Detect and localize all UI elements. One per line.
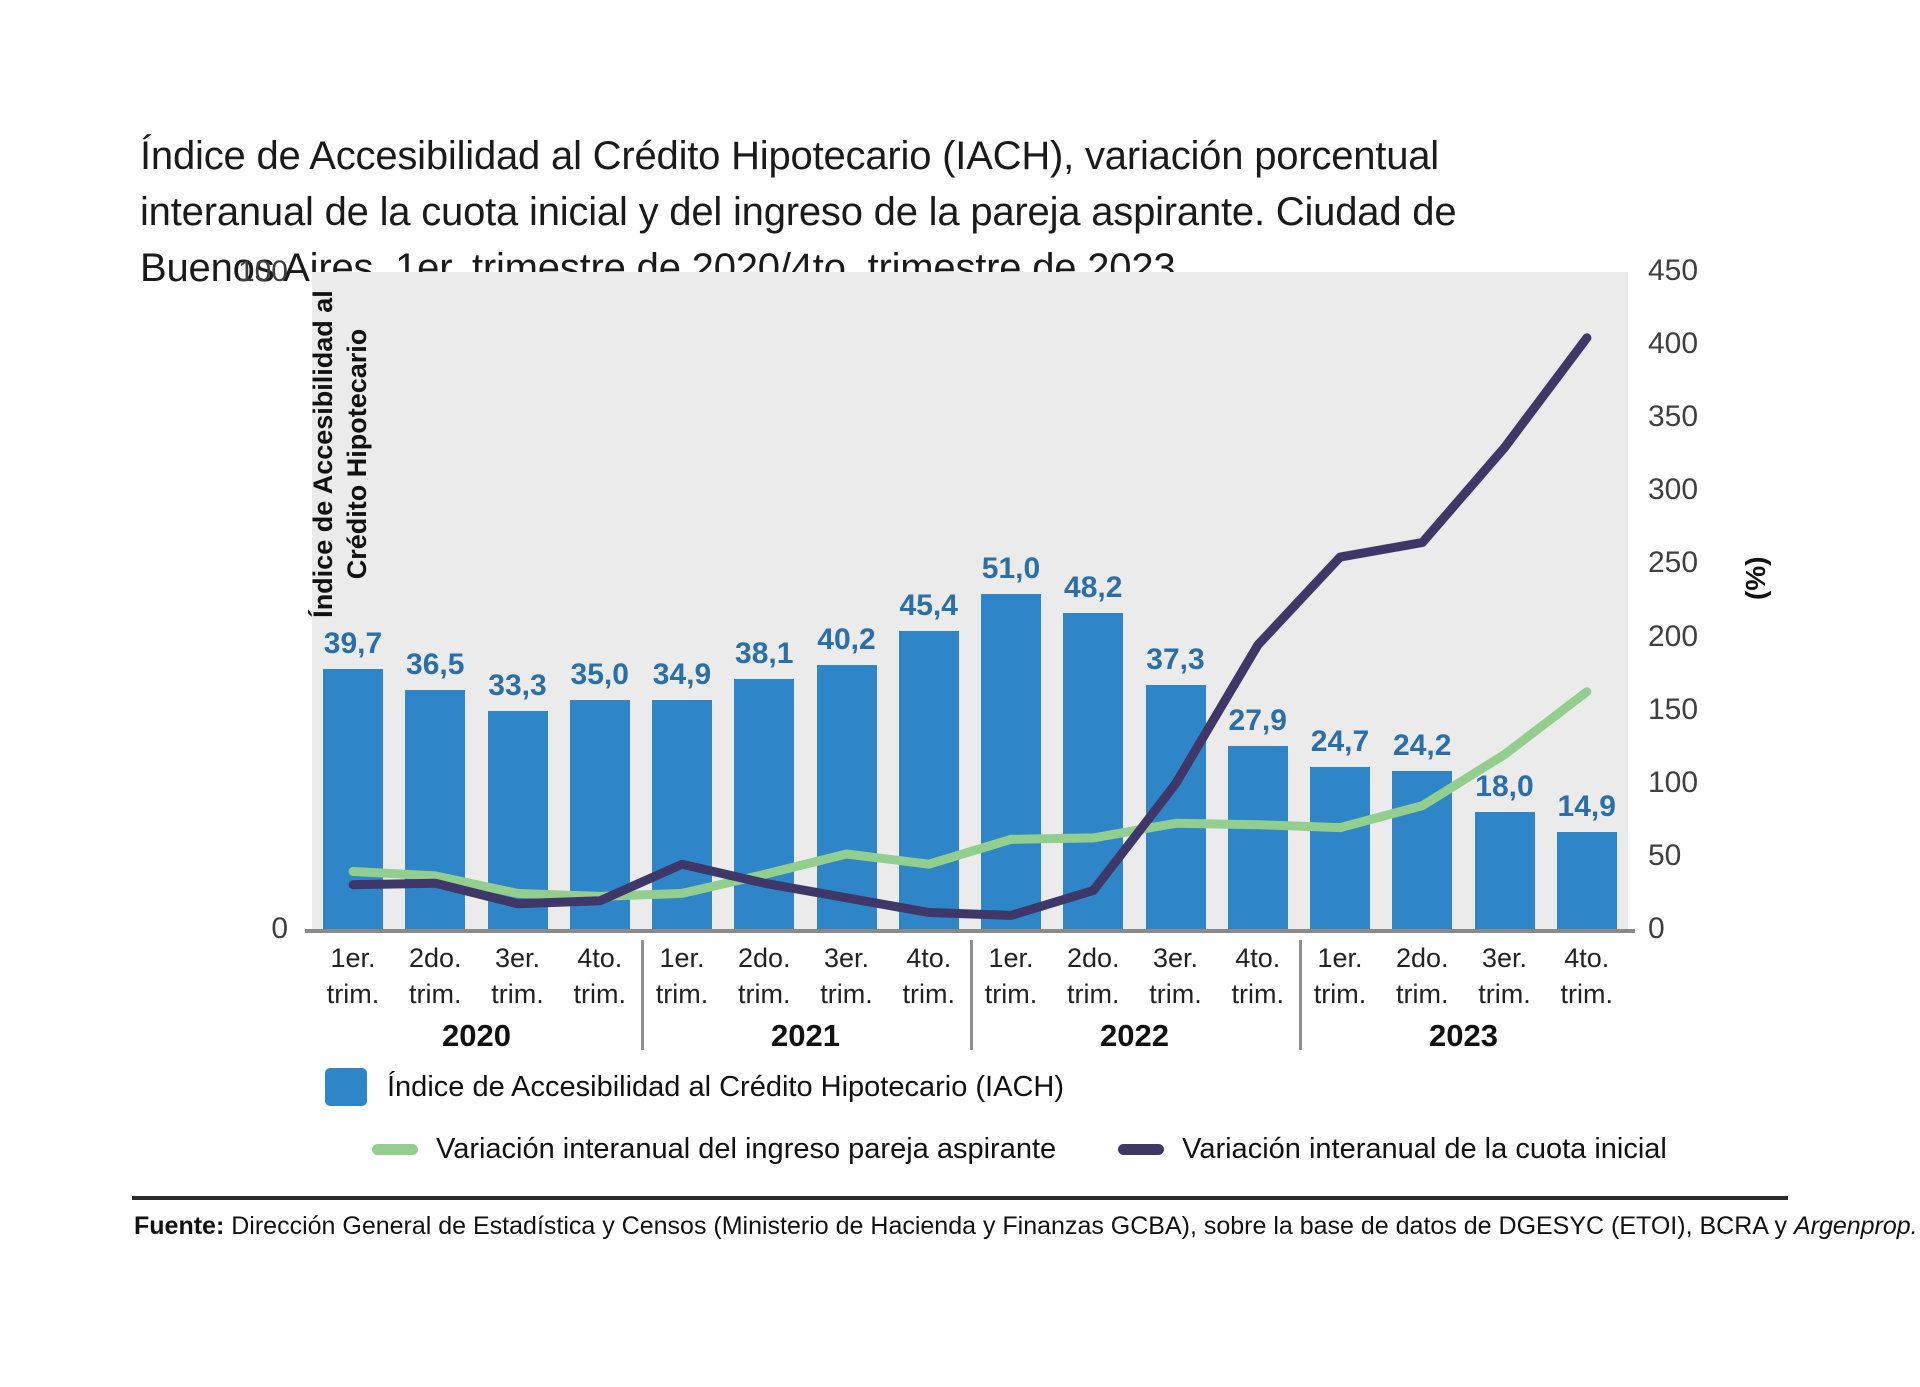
year-group-divider [641,940,644,1050]
x-axis-label-line-2: trim. [1546,976,1628,1012]
chart-area: 100 0 Índice de Accesibilidad al Crédito… [0,0,1920,1387]
right-axis-tick-450: 450 [1648,254,1738,288]
source-label: Fuente: [134,1212,224,1240]
legend-label-green-line: Variación interanual del ingreso pareja … [436,1133,1056,1166]
footer-divider [132,1196,1788,1200]
x-axis-label: 1er.trim. [970,940,1052,1012]
x-axis-label-line-2: trim. [641,976,723,1012]
legend-row-lines: Variación interanual del ingreso pareja … [372,1133,1667,1166]
x-axis-label-line-2: trim. [312,976,394,1012]
x-axis-label: 3er.trim. [1464,940,1546,1012]
x-axis-label-line-2: trim. [394,976,476,1012]
x-axis-label-line-1: 4to. [888,940,970,976]
x-axis-label-line-1: 4to. [1217,940,1299,976]
right-axis-tick-100: 100 [1648,766,1738,800]
legend-swatch-purple-line-icon [1118,1144,1164,1155]
legend-label-bars: Índice de Accesibilidad al Crédito Hipot… [387,1071,1064,1104]
right-axis-tick-350: 350 [1648,400,1738,434]
x-axis-label: 2do.trim. [1052,940,1134,1012]
legend-row-bars: Índice de Accesibilidad al Crédito Hipot… [325,1068,1064,1106]
x-axis-label-line-2: trim. [1464,976,1546,1012]
line-purple [353,338,1587,916]
x-axis-label: 3er.trim. [1135,940,1217,1012]
x-axis-label-line-2: trim. [1299,976,1381,1012]
right-axis-tick-0: 0 [1648,912,1738,946]
year-group-label: 2021 [641,1018,970,1054]
right-axis-tick-400: 400 [1648,327,1738,361]
x-axis-label-line-1: 1er. [1299,940,1381,976]
x-axis-label: 1er.trim. [1299,940,1381,1012]
right-axis-tick-50: 50 [1648,839,1738,873]
x-axis-label-line-2: trim. [477,976,559,1012]
year-group-divider [970,940,973,1050]
legend-swatch-green-line-icon [372,1144,418,1155]
year-group-label: 2020 [312,1018,641,1054]
right-axis-title: (%) [1740,556,1772,600]
line-green [353,692,1587,897]
x-axis-label-line-1: 2do. [1381,940,1463,976]
x-axis-label: 4to.trim. [1546,940,1628,1012]
x-axis-label-line-1: 3er. [1464,940,1546,976]
legend-swatch-bar-icon [325,1068,367,1106]
right-axis-tick-200: 200 [1648,620,1738,654]
x-axis-label-line-1: 2do. [723,940,805,976]
x-axis-label-line-1: 3er. [1135,940,1217,976]
x-axis-label: 3er.trim. [806,940,888,1012]
x-axis-label: 1er.trim. [641,940,723,1012]
x-axis-label: 3er.trim. [477,940,559,1012]
right-axis-tick-150: 150 [1648,693,1738,727]
year-group-label: 2023 [1299,1018,1628,1054]
x-axis-label-line-2: trim. [888,976,970,1012]
x-axis-label-line-1: 3er. [477,940,559,976]
x-axis-label: 4to.trim. [888,940,970,1012]
x-axis-label-line-2: trim. [970,976,1052,1012]
left-axis-tick-100: 100 [168,255,288,289]
x-axis-label-line-1: 1er. [641,940,723,976]
x-axis-label: 4to.trim. [559,940,641,1012]
x-axis-label-line-2: trim. [1381,976,1463,1012]
x-axis-baseline [305,929,1635,933]
right-axis-tick-300: 300 [1648,473,1738,507]
x-axis-label-line-2: trim. [723,976,805,1012]
line-series [312,272,1628,930]
source-note: Fuente: Dirección General de Estadística… [134,1212,1918,1241]
x-axis-label-line-2: trim. [1052,976,1134,1012]
x-axis-label-line-2: trim. [1135,976,1217,1012]
x-axis-label-line-1: 1er. [312,940,394,976]
x-axis-label-line-1: 4to. [1546,940,1628,976]
x-axis-label-line-2: trim. [1217,976,1299,1012]
x-axis-label-line-2: trim. [806,976,888,1012]
x-axis-label: 2do.trim. [1381,940,1463,1012]
x-axis-label-line-1: 2do. [1052,940,1134,976]
x-axis-label: 2do.trim. [394,940,476,1012]
source-italic: Argenprop. [1794,1212,1918,1240]
x-axis-label-line-1: 3er. [806,940,888,976]
year-group-label: 2022 [970,1018,1299,1054]
x-axis-label: 2do.trim. [723,940,805,1012]
x-axis-label-line-2: trim. [559,976,641,1012]
x-axis-label-line-1: 2do. [394,940,476,976]
left-axis-tick-0: 0 [168,912,288,946]
x-axis-label-line-1: 1er. [970,940,1052,976]
x-axis-label: 1er.trim. [312,940,394,1012]
source-text: Dirección General de Estadística y Censo… [224,1212,1794,1240]
legend-label-purple-line: Variación interanual de la cuota inicial [1182,1133,1667,1166]
right-axis-tick-250: 250 [1648,546,1738,580]
x-axis-label: 4to.trim. [1217,940,1299,1012]
year-group-divider [1299,940,1302,1050]
x-axis-label-line-1: 4to. [559,940,641,976]
chart-page: Índice de Accesibilidad al Crédito Hipot… [0,0,1920,1387]
